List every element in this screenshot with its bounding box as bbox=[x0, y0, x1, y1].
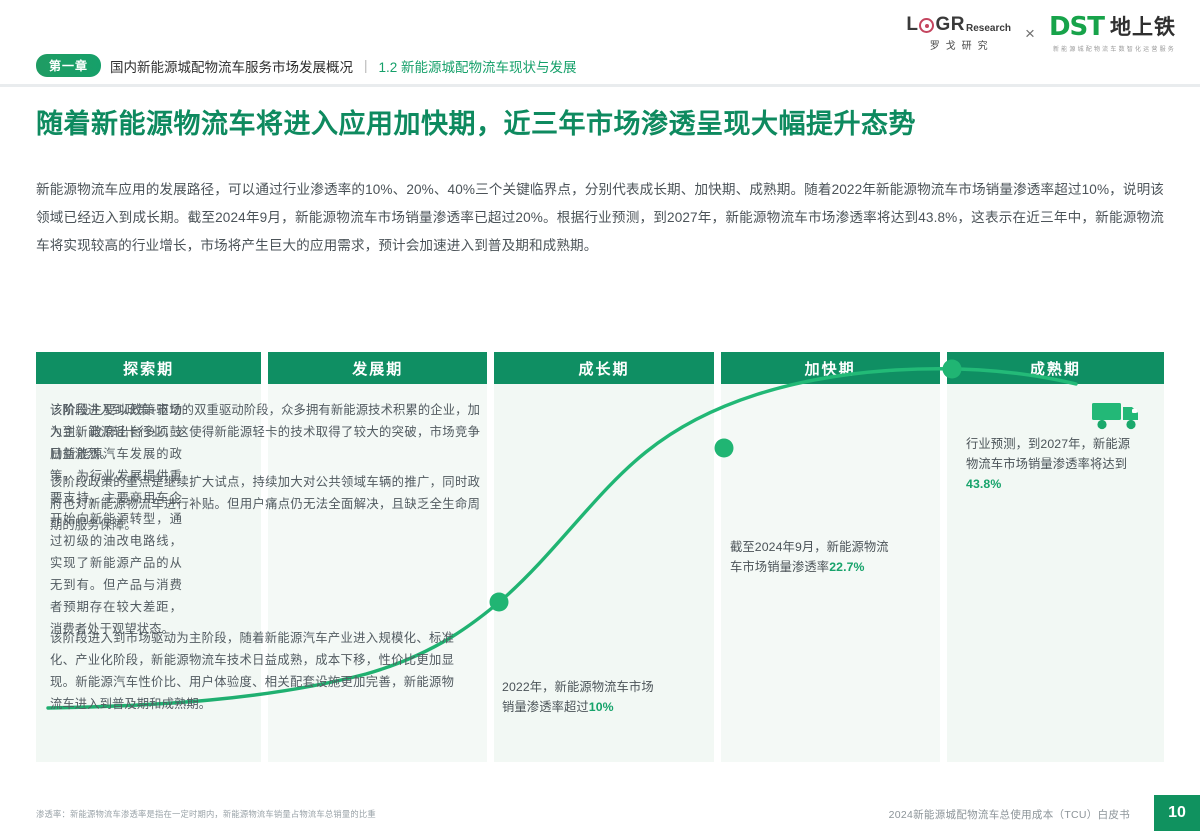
phase-text-develop-p2: 该阶段政策的重点是继续扩大试点，持续加大对公共领域车辆的推广，同时政府也对新能源… bbox=[50, 472, 480, 538]
phase-text-develop: 该阶段进入到政策+市场的双重驱动阶段，众多拥有新能源技术积累的企业，加入到新能源… bbox=[50, 400, 480, 537]
phase-header-accel: 加快期 bbox=[721, 352, 940, 384]
target-ring-icon bbox=[919, 18, 934, 33]
logo-logresearch-cn: 罗戈研究 bbox=[924, 37, 994, 52]
annotation-2024: 截至2024年9月，新能源物流车市场销量渗透率22.7% bbox=[730, 538, 896, 578]
chapter-badge: 第一章 bbox=[36, 54, 101, 77]
logo-dst: DST 地上铁 新能源城配物流车数智化运营服务 bbox=[1049, 14, 1176, 53]
page-header: L GR Research 罗戈研究 × DST 地上铁 新能源城配物流车数智化… bbox=[0, 0, 1200, 84]
brand-logos: L GR Research 罗戈研究 × DST 地上铁 新能源城配物流车数智化… bbox=[906, 14, 1176, 53]
logo-dst-mark: DST bbox=[1049, 14, 1104, 40]
phase-header-develop: 发展期 bbox=[268, 352, 487, 384]
phase-header-growth: 成长期 bbox=[494, 352, 713, 384]
footnote-penetration-definition: 渗透率：新能源物流车渗透率是指在一定时期内，新能源物流车销量占物流车总销量的比重 bbox=[36, 808, 376, 820]
logo-text-gr: GR bbox=[935, 15, 965, 34]
footer-report-title: 2024新能源城配物流车总使用成本（TCU）白皮书 bbox=[889, 807, 1130, 822]
phase-header-mature: 成熟期 bbox=[947, 352, 1164, 384]
annotation-2024-text: 截至2024年9月，新能源物流车市场销量渗透率 bbox=[730, 540, 889, 574]
breadcrumb-sub: 1.2 新能源城配物流车现状与发展 bbox=[379, 56, 577, 76]
page-title: 随着新能源物流车将进入应用加快期，近三年市场渗透呈现大幅提升态势 bbox=[36, 108, 1166, 140]
breadcrumb-separator: | bbox=[364, 58, 368, 73]
annotation-2022-text: 2022年，新能源物流车市场销量渗透率超过 bbox=[502, 680, 654, 714]
logo-dst-tagline: 新能源城配物流车数智化运营服务 bbox=[1049, 44, 1176, 53]
breadcrumb-main: 国内新能源城配物流车服务市场发展概况 bbox=[110, 56, 353, 76]
logo-separator-x: × bbox=[1025, 24, 1035, 44]
phase-header-explore: 探索期 bbox=[36, 352, 261, 384]
annotation-2027: 行业预测，到2027年，新能源物流车市场销量渗透率将达到 43.8% bbox=[966, 435, 1134, 495]
page-number: 10 bbox=[1154, 795, 1200, 831]
header-divider bbox=[0, 84, 1200, 87]
breadcrumb: 第一章 国内新能源城配物流车服务市场发展概况 | 1.2 新能源城配物流车现状与… bbox=[36, 54, 577, 77]
logo-dst-row: DST 地上铁 bbox=[1049, 14, 1176, 40]
annotation-2027-value: 43.8% bbox=[966, 477, 1001, 491]
logo-logresearch: L GR Research 罗戈研究 bbox=[906, 15, 1011, 52]
phase-column-mature: 成熟期 bbox=[947, 352, 1164, 762]
annotation-2022-value: 10% bbox=[589, 700, 614, 714]
slide-page: L GR Research 罗戈研究 × DST 地上铁 新能源城配物流车数智化… bbox=[0, 0, 1200, 831]
logo-research-label: Research bbox=[966, 24, 1011, 34]
annotation-2024-value: 22.7% bbox=[829, 560, 864, 574]
phase-text-accel: 该阶段进入到市场驱动为主阶段，随着新能源汽车产业进入规模化、标准化、产业化阶段，… bbox=[50, 628, 454, 716]
phase-text-develop-p1: 该阶段进入到政策+市场的双重驱动阶段，众多拥有新能源技术积累的企业，加入到新能源… bbox=[50, 400, 480, 466]
annotation-2022: 2022年，新能源物流车市场销量渗透率超过10% bbox=[502, 678, 662, 718]
annotation-2027-text: 行业预测，到2027年，新能源物流车市场销量渗透率将达到 bbox=[966, 437, 1130, 471]
intro-paragraph: 新能源物流车应用的发展路径，可以通过行业渗透率的10%、20%、40%三个关键临… bbox=[36, 176, 1164, 260]
logo-logresearch-mark: L GR Research bbox=[906, 15, 1011, 34]
logo-text-l: L bbox=[906, 15, 918, 34]
logo-dst-cn: 地上铁 bbox=[1110, 17, 1176, 38]
